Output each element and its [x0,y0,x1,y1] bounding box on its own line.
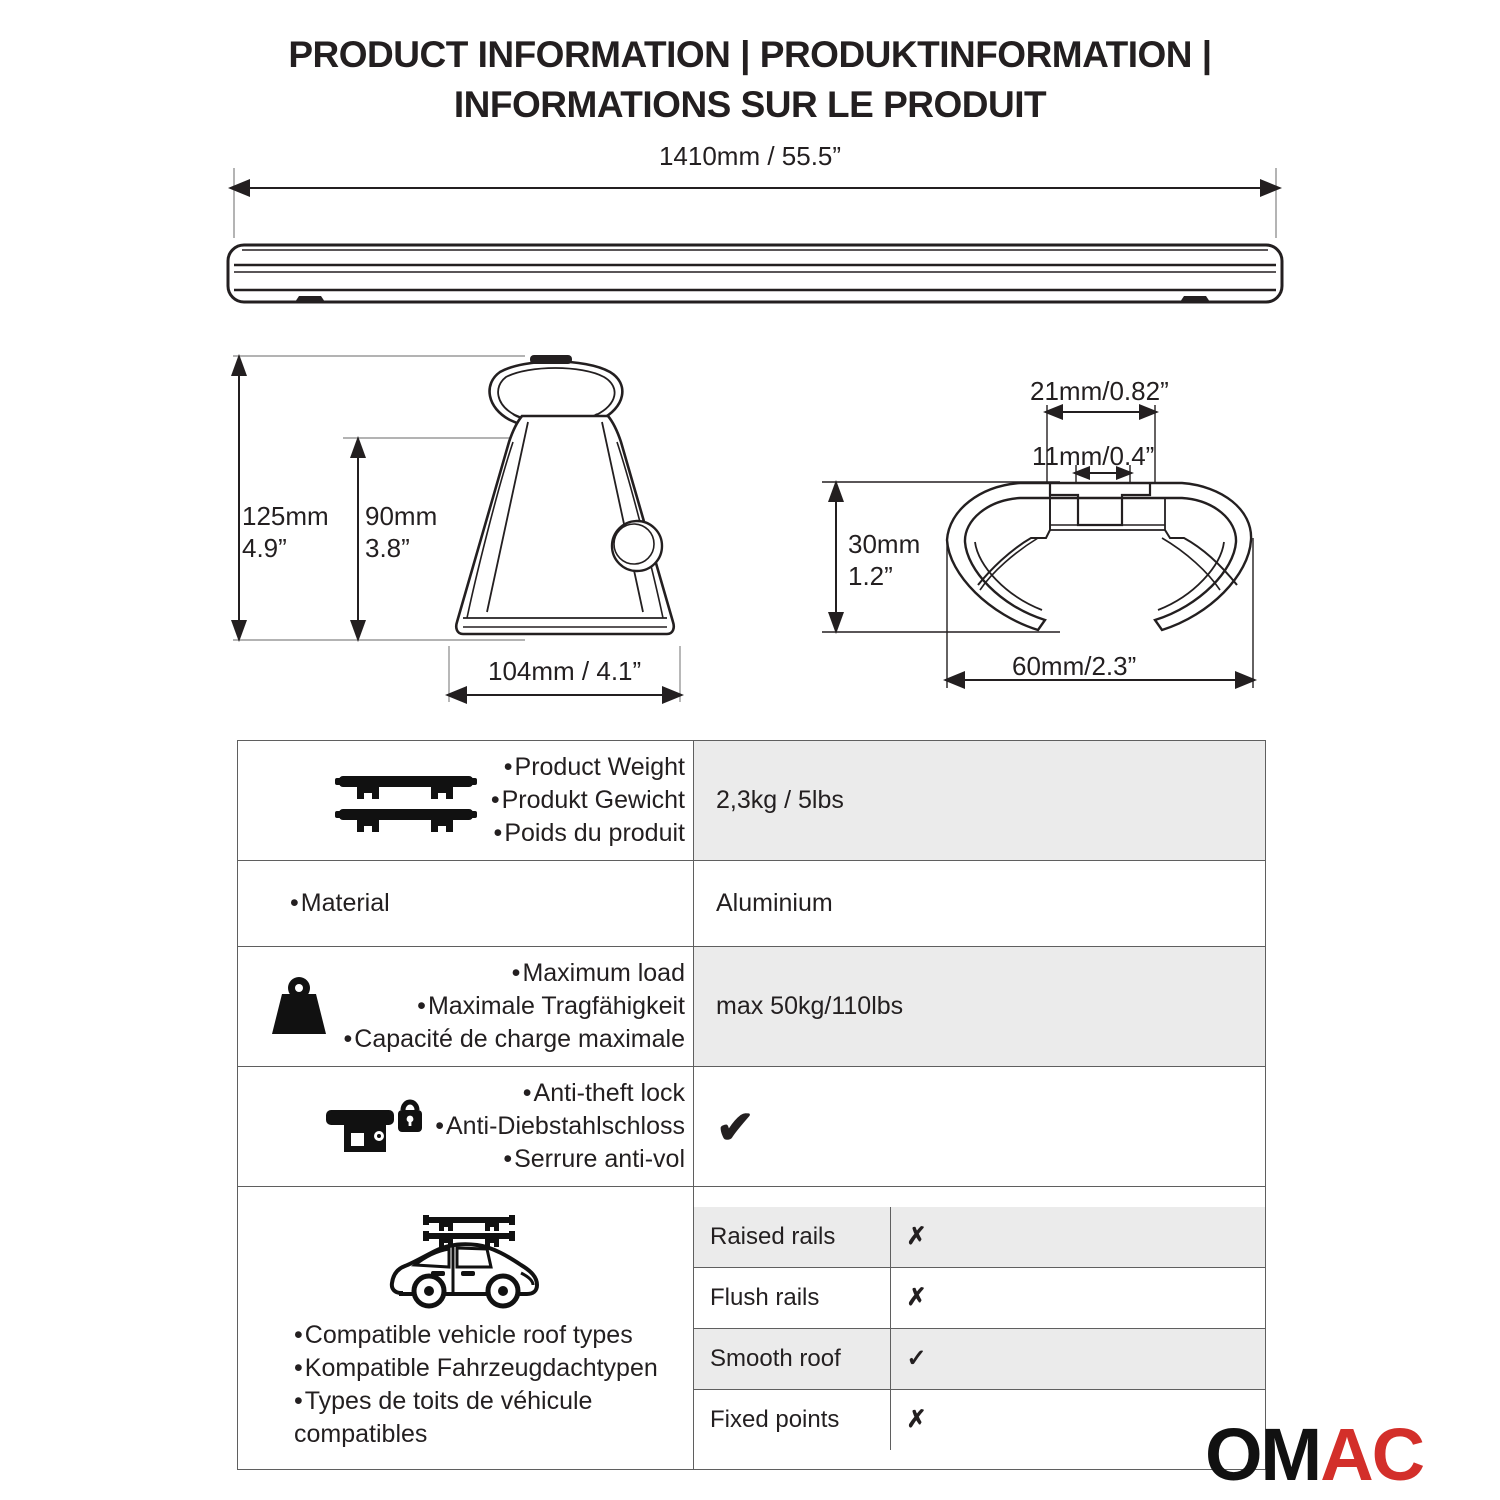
material-label-cell: Material [238,861,694,947]
material-value: Aluminium [694,879,1265,928]
label-en: Material [290,887,685,920]
max-load-value-cell: max 50kg/110lbs [694,947,1266,1067]
label-de: Anti-Diebstahlschloss [435,1110,685,1143]
product-weight-value: 2,3kg / 5lbs [694,776,1265,825]
material-labels: Material [248,887,685,920]
roof-type-row-smooth-roof: Smooth roof ✓ [694,1328,1265,1389]
omac-logo-ac: AC [1320,1413,1423,1496]
label-de: Produkt Gewicht [491,784,685,817]
omac-logo-om: OM [1205,1413,1320,1496]
roof-type-mark: ✗ [890,1207,1265,1268]
label-en: Compatible vehicle roof types [294,1319,679,1352]
label-fr: Serrure anti-vol [435,1143,685,1176]
label-en: Anti-theft lock [435,1077,685,1110]
max-load-value: max 50kg/110lbs [694,982,1265,1031]
max-load-labels: Maximum load Maximale Tragfähigkeit Capa… [344,957,686,1056]
table-row: Compatible vehicle roof types Kompatible… [238,1187,1266,1470]
weight-icon [264,972,334,1042]
label-fr: Types de toits de véhicule compatibles [294,1385,679,1451]
product-weight-labels: Product Weight Produkt Gewicht Poids du … [491,751,685,850]
material-value-cell: Aluminium [694,861,1266,947]
specification-table: Product Weight Produkt Gewicht Poids du … [237,740,1266,1470]
roof-type-mark: ✓ [890,1328,1265,1389]
anti-theft-value-cell: ✔ [694,1067,1266,1187]
product-information-sheet: PRODUCT INFORMATION | PRODUKTINFORMATION… [0,0,1500,1500]
table-row: Product Weight Produkt Gewicht Poids du … [238,741,1266,861]
roof-bar-cross-section [810,370,1290,700]
label-fr: Capacité de charge maximale [344,1023,686,1056]
roof-types-sub-table: Raised rails ✗ Flush rails ✗ Smooth roof… [694,1207,1265,1450]
roof-types-value-cell: Raised rails ✗ Flush rails ✗ Smooth roof… [694,1187,1266,1470]
label-en: Product Weight [491,751,685,784]
roof-types-label-cell: Compatible vehicle roof types Kompatible… [238,1187,694,1470]
roof-type-name: Smooth roof [694,1328,890,1389]
label-fr: Poids du produit [491,817,685,850]
roof-types-labels: Compatible vehicle roof types Kompatible… [294,1319,679,1451]
anti-theft-labels: Anti-theft lock Anti-Diebstahlschloss Se… [435,1077,685,1176]
table-row: Material Aluminium [238,861,1266,947]
page-title-line-2: INFORMATIONS SUR LE PRODUIT [0,80,1500,130]
roof-type-row-flush-rails: Flush rails ✗ [694,1267,1265,1328]
roof-type-mark: ✗ [890,1267,1265,1328]
table-row: Maximum load Maximale Tragfähigkeit Capa… [238,947,1266,1067]
anti-theft-label-cell: Anti-theft lock Anti-Diebstahlschloss Se… [238,1067,694,1187]
page-title: PRODUCT INFORMATION | PRODUKTINFORMATION… [0,30,1500,130]
car-with-crossbars-icon [381,1201,551,1319]
roof-type-name: Fixed points [694,1389,890,1450]
roof-type-row-fixed-points: Fixed points ✗ [694,1389,1265,1450]
table-row: Anti-theft lock Anti-Diebstahlschloss Se… [238,1067,1266,1187]
omac-logo: OMAC [1205,1418,1423,1492]
crossbars-icon [331,766,481,836]
roof-type-name: Raised rails [694,1207,890,1268]
product-weight-label-cell: Product Weight Produkt Gewicht Poids du … [238,741,694,861]
roof-type-row-raised-rails: Raised rails ✗ [694,1207,1265,1268]
anti-theft-check-mark: ✔ [694,1094,1265,1160]
label-en: Maximum load [344,957,686,990]
roof-bar-foot-side-view [225,350,705,710]
label-de: Kompatible Fahrzeugdachtypen [294,1352,679,1385]
product-weight-value-cell: 2,3kg / 5lbs [694,741,1266,861]
lock-icon [320,1092,425,1162]
max-load-label-cell: Maximum load Maximale Tragfähigkeit Capa… [238,947,694,1067]
roof-type-name: Flush rails [694,1267,890,1328]
label-de: Maximale Tragfähigkeit [344,990,686,1023]
roof-bar-top-view [220,150,1290,320]
page-title-line-1: PRODUCT INFORMATION | PRODUKTINFORMATION… [0,30,1500,80]
